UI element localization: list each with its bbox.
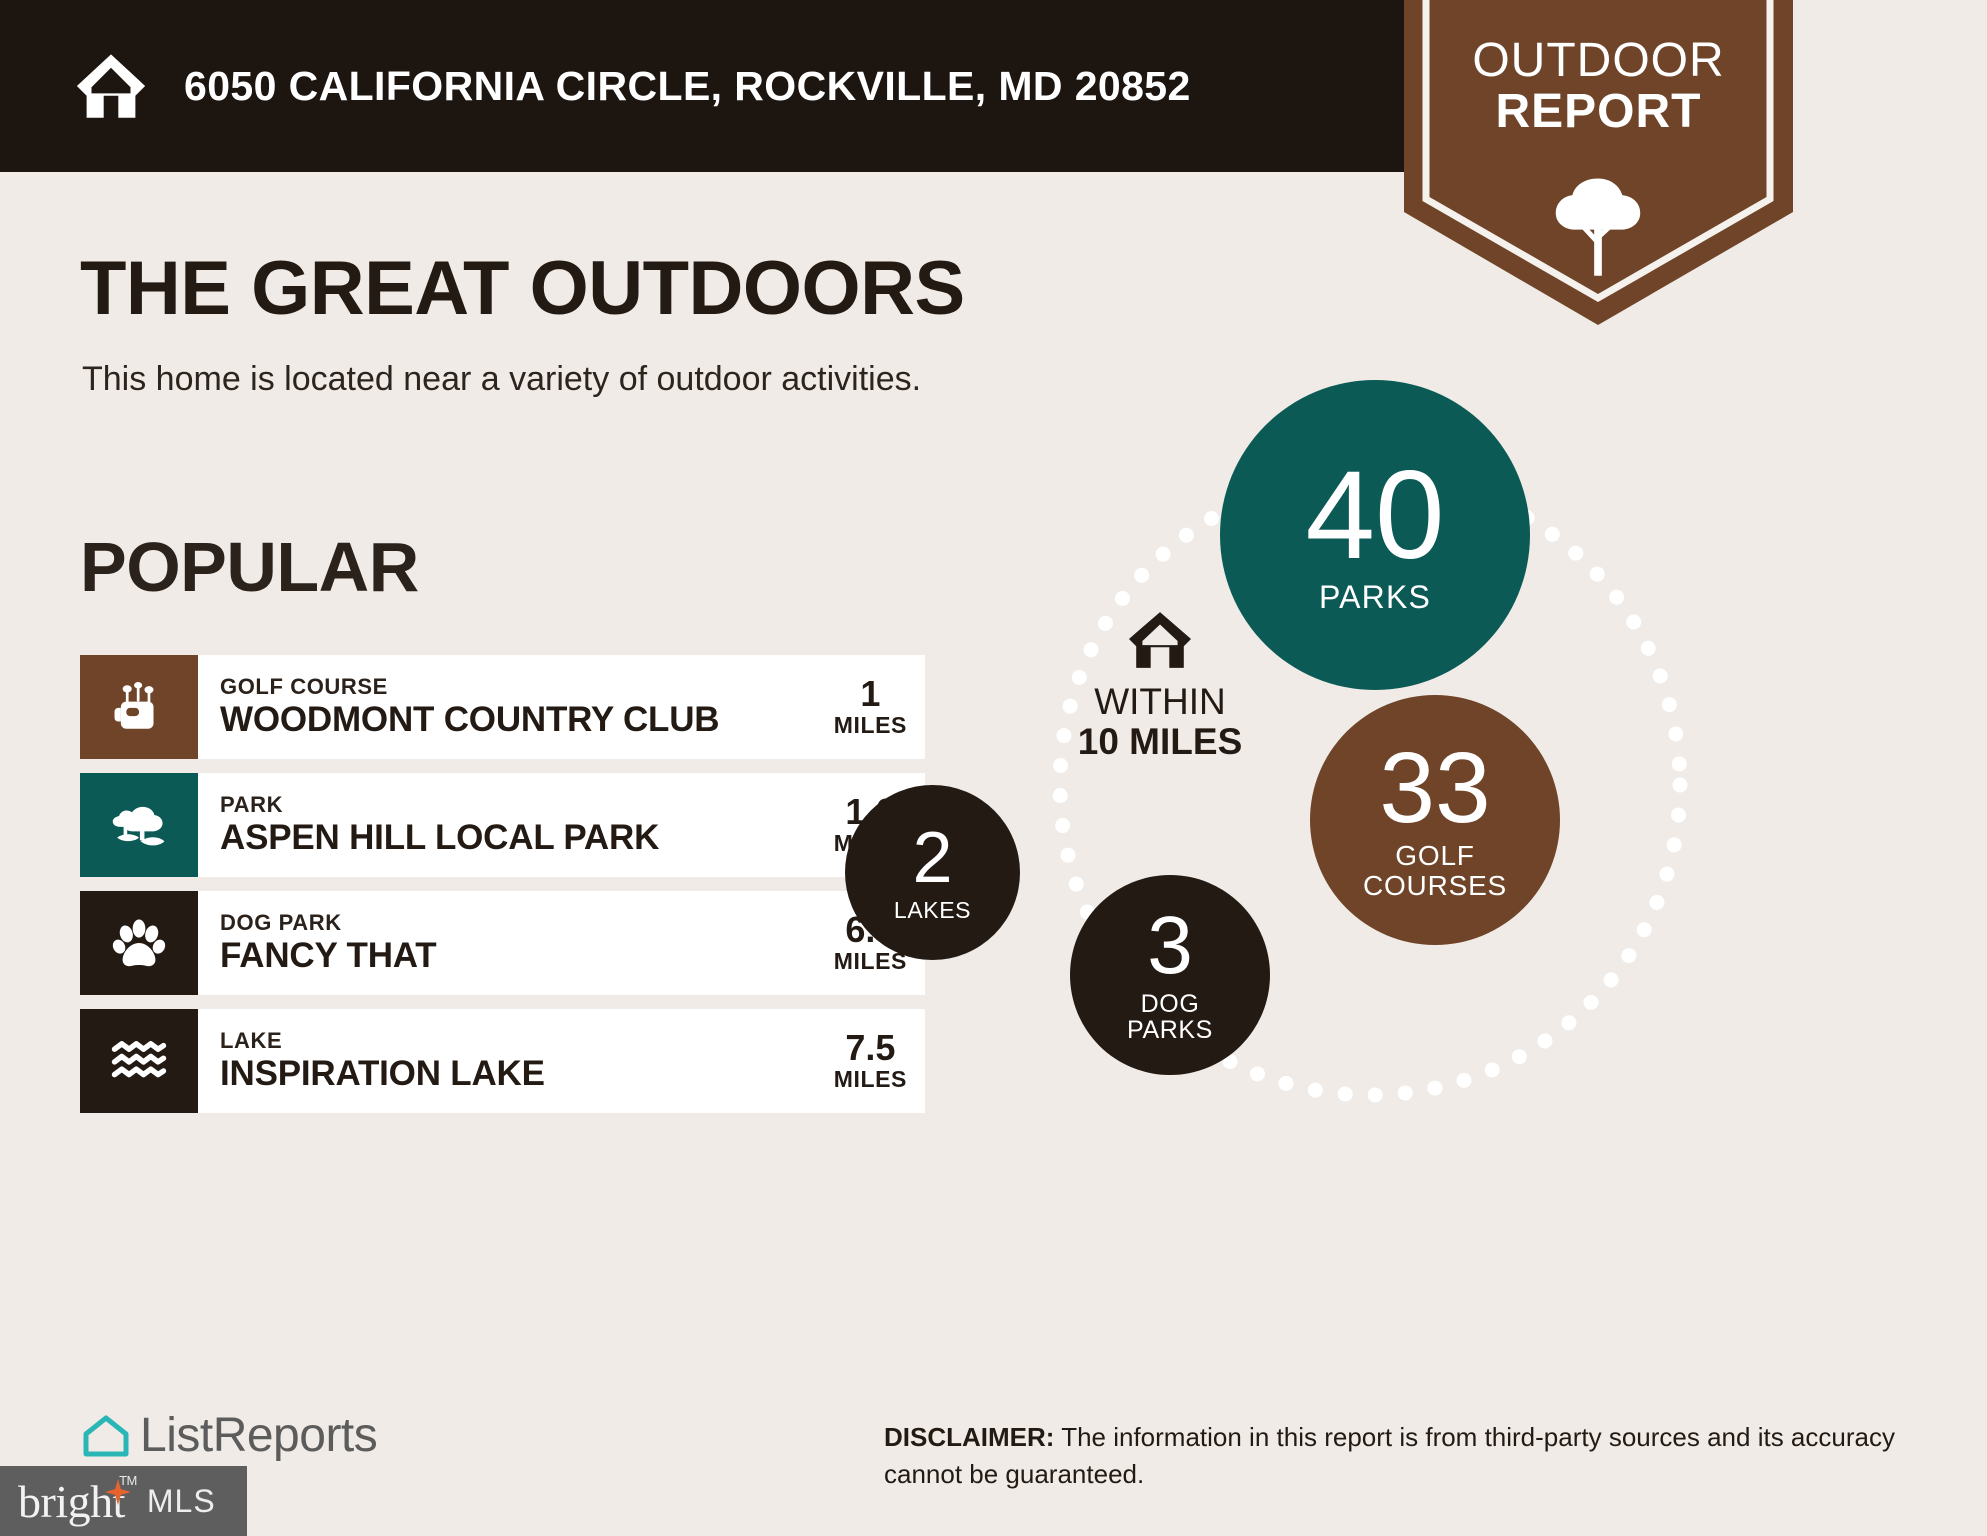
stat-bubble-lakes: 2 LAKES: [845, 785, 1020, 960]
home-icon: [72, 47, 150, 125]
tree-park-icon: [80, 773, 198, 877]
bright-mls-badge: bright TM MLS: [0, 1466, 247, 1536]
outdoor-report-page: 6050 CALIFORNIA CIRCLE, ROCKVILLE, MD 20…: [0, 0, 1987, 1536]
house-outline-icon: [80, 1410, 132, 1462]
bright-wordmark: bright TM: [18, 1475, 125, 1528]
golf-label-line-1: GOLF: [1395, 841, 1474, 871]
list-item-name: INSPIRATION LAKE: [220, 1056, 824, 1093]
list-item-body: DOG PARK FANCY THAT 6.8 MILES: [198, 891, 925, 995]
list-item-category: PARK: [220, 793, 824, 817]
list-item-distance: 1 MILES: [824, 676, 907, 739]
list-item-body: PARK ASPEN HILL LOCAL PARK 1.6 MILES: [198, 773, 925, 877]
dog-parks-label-line-2: PARKS: [1127, 1017, 1213, 1044]
water-waves-icon: [80, 1009, 198, 1113]
chart-center-label: WITHIN 10 MILES: [1050, 610, 1270, 762]
list-item[interactable]: GOLF COURSE WOODMONT COUNTRY CLUB 1 MILE…: [80, 655, 925, 759]
list-item-body: GOLF COURSE WOODMONT COUNTRY CLUB 1 MILE…: [198, 655, 925, 759]
lakes-count: 2: [912, 823, 952, 894]
property-address: 6050 CALIFORNIA CIRCLE, ROCKVILLE, MD 20…: [184, 63, 1191, 110]
stat-bubble-parks: 40 PARKS: [1220, 380, 1530, 690]
distance-value: 1: [834, 676, 907, 712]
golf-label-line-2: COURSES: [1363, 871, 1507, 901]
stat-bubble-dog-parks: 3 DOG PARKS: [1070, 875, 1270, 1075]
badge-shield-shape: [1404, 0, 1793, 325]
outdoor-report-badge: OUTDOOR REPORT: [1404, 0, 1793, 325]
page-title: THE GREAT OUTDOORS: [80, 245, 965, 332]
home-icon: [1126, 610, 1194, 670]
paw-print-icon: [80, 891, 198, 995]
trademark-symbol: TM: [119, 1473, 137, 1488]
center-line-2: 10 MILES: [1050, 722, 1270, 762]
page-subtitle: This home is located near a variety of o…: [82, 360, 921, 399]
lakes-label: LAKES: [894, 898, 971, 922]
stat-bubble-golf-courses: 33 GOLF COURSES: [1310, 695, 1560, 945]
mls-text: MLS: [147, 1483, 216, 1520]
golf-bag-icon: [80, 655, 198, 759]
distance-unit: MILES: [834, 1066, 907, 1093]
listreports-logo: ListReports: [80, 1408, 377, 1463]
parks-label: PARKS: [1319, 581, 1431, 615]
popular-list: GOLF COURSE WOODMONT COUNTRY CLUB 1 MILE…: [80, 655, 925, 1127]
list-item-name: WOODMONT COUNTRY CLUB: [220, 702, 824, 739]
disclaimer: DISCLAIMER: The information in this repo…: [884, 1419, 1924, 1493]
within-10-miles-chart: WITHIN 10 MILES 40 PARKS 33 GOLF COURSES…: [1040, 440, 1940, 1280]
dog-parks-label-line-1: DOG: [1141, 991, 1200, 1018]
disclaimer-label: DISCLAIMER:: [884, 1422, 1054, 1452]
list-item-name: FANCY THAT: [220, 938, 824, 975]
list-item-name: ASPEN HILL LOCAL PARK: [220, 820, 824, 857]
distance-unit: MILES: [834, 712, 907, 739]
list-item-distance: 7.5 MILES: [824, 1030, 907, 1093]
list-item[interactable]: DOG PARK FANCY THAT 6.8 MILES: [80, 891, 925, 995]
listreports-wordmark: ListReports: [140, 1408, 377, 1463]
section-heading-popular: POPULAR: [80, 527, 419, 607]
list-item-body: LAKE INSPIRATION LAKE 7.5 MILES: [198, 1009, 925, 1113]
dog-parks-count: 3: [1147, 906, 1193, 986]
center-line-1: WITHIN: [1050, 682, 1270, 722]
golf-count: 33: [1379, 739, 1490, 837]
list-item-category: GOLF COURSE: [220, 675, 824, 699]
parks-count: 40: [1305, 455, 1444, 578]
list-item[interactable]: LAKE INSPIRATION LAKE 7.5 MILES: [80, 1009, 925, 1113]
list-item-category: LAKE: [220, 1029, 824, 1053]
list-item[interactable]: PARK ASPEN HILL LOCAL PARK 1.6 MILES: [80, 773, 925, 877]
distance-value: 7.5: [834, 1030, 907, 1066]
header-bar: 6050 CALIFORNIA CIRCLE, ROCKVILLE, MD 20…: [0, 0, 1404, 172]
list-item-category: DOG PARK: [220, 911, 824, 935]
